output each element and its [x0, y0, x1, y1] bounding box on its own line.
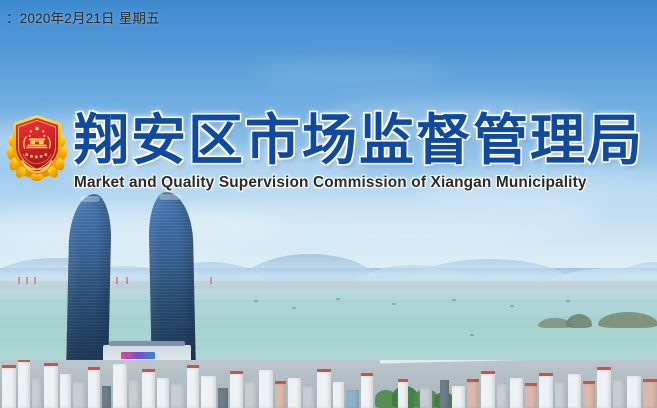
building [497, 384, 508, 408]
building [303, 386, 315, 408]
building [361, 376, 373, 408]
building [643, 382, 657, 408]
building [171, 384, 185, 408]
building [187, 368, 199, 408]
building [259, 370, 273, 408]
building [157, 378, 169, 408]
rocky-islet [598, 312, 657, 328]
building [142, 372, 155, 408]
building [440, 380, 449, 408]
building [102, 386, 111, 408]
port-crane [126, 277, 128, 284]
building [481, 374, 495, 408]
coastal-road [380, 360, 657, 364]
boat [452, 299, 456, 301]
podium-roof [109, 341, 185, 346]
page-subtitle-english: Market and Quality Supervision Commissio… [74, 174, 657, 192]
page-root: ：2020年2月21日 星期五 [0, 0, 657, 408]
building [525, 386, 537, 408]
building [32, 378, 42, 408]
boat [510, 305, 514, 307]
organization-title-block: 翔安区市场监督管理局 Market and Quality Supervisio… [74, 108, 657, 192]
boat [292, 307, 296, 309]
building [613, 380, 625, 408]
boat [254, 300, 258, 302]
building [230, 374, 243, 408]
building [288, 378, 301, 408]
port-crane [210, 277, 212, 284]
building [2, 368, 16, 408]
building [317, 372, 331, 408]
page-title-chinese: 翔安区市场监督管理局 [74, 108, 657, 172]
port-crane [34, 277, 36, 284]
building [333, 382, 344, 408]
boat [336, 298, 340, 300]
building [555, 382, 566, 408]
building [88, 370, 100, 408]
building [60, 374, 71, 408]
building [73, 382, 86, 408]
boat [566, 300, 570, 302]
building [218, 388, 228, 408]
china-market-supervision-emblem-icon [6, 112, 68, 182]
cloud [250, 60, 450, 86]
building [510, 378, 523, 408]
building [539, 376, 553, 408]
building [201, 376, 216, 408]
podium-signage [121, 352, 155, 359]
port-crane [18, 277, 20, 284]
building [452, 386, 465, 408]
building [245, 382, 257, 408]
cityscape-layer [0, 360, 657, 408]
building [597, 370, 611, 408]
building [398, 382, 408, 408]
building [627, 376, 641, 408]
twin-tower-left [66, 194, 112, 370]
building [129, 380, 140, 408]
boat [470, 334, 474, 336]
building [275, 384, 286, 408]
building [568, 374, 581, 408]
boat [392, 303, 396, 305]
building [583, 384, 595, 408]
port-crane [116, 277, 118, 284]
building [420, 388, 432, 408]
current-date-line: ：2020年2月21日 星期五 [0, 9, 160, 29]
building [346, 390, 359, 408]
current-date-text: ：2020年2月21日 星期五 [6, 9, 160, 29]
building [113, 364, 127, 408]
site-masthead: 翔安区市场监督管理局 Market and Quality Supervisio… [0, 108, 657, 204]
port-crane [26, 277, 28, 284]
building [44, 366, 58, 408]
header-background-photo [0, 0, 657, 408]
building [467, 382, 479, 408]
building [18, 362, 30, 408]
